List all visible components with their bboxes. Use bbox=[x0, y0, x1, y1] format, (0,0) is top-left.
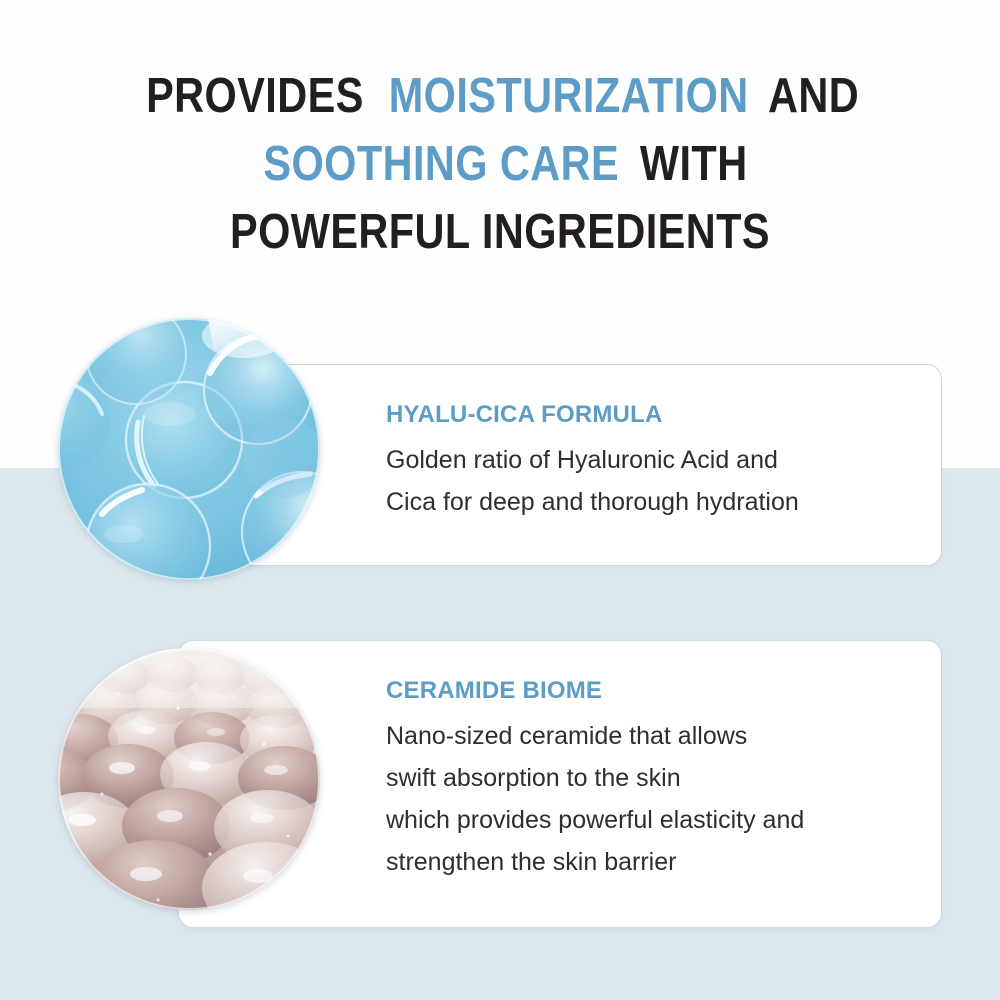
headline-line-3: POWERFUL INGREDIENTS bbox=[40, 198, 960, 266]
feature-description: Nano-sized ceramide that allows swift ab… bbox=[386, 715, 926, 883]
headline-line-3-part-1: POWERFUL INGREDIENTS bbox=[230, 198, 770, 266]
headline-line-2-part-2: WITH bbox=[640, 130, 748, 198]
feature-description: Golden ratio of Hyaluronic Acid and Cica… bbox=[386, 439, 926, 523]
headline-line-1: PROVIDES MOISTURIZATION AND bbox=[40, 62, 960, 130]
page-title: PROVIDES MOISTURIZATION AND SOOTHING CAR… bbox=[0, 62, 1000, 266]
headline-line-2: SOOTHING CARE WITH bbox=[40, 130, 960, 198]
headline-line-1-part-1: PROVIDES bbox=[146, 62, 364, 130]
feature-title: CERAMIDE BIOME bbox=[386, 677, 926, 705]
headline-line-2-part-1: SOOTHING CARE bbox=[264, 130, 620, 198]
product-benefits-infographic: PROVIDES MOISTURIZATION AND SOOTHING CAR… bbox=[0, 0, 1000, 1000]
headline-line-1-part-3: AND bbox=[768, 62, 859, 130]
headline-line-1-part-2: MOISTURIZATION bbox=[389, 62, 749, 130]
feature-card-text-block: CERAMIDE BIOME Nano-sized ceramide that … bbox=[386, 677, 926, 883]
feature-card-text-block: HYALU-CICA FORMULA Golden ratio of Hyalu… bbox=[386, 401, 926, 523]
ceramide-dome-texture-photo bbox=[58, 648, 320, 910]
blue-gel-bubbles-photo bbox=[58, 318, 320, 580]
feature-title: HYALU-CICA FORMULA bbox=[386, 401, 926, 429]
